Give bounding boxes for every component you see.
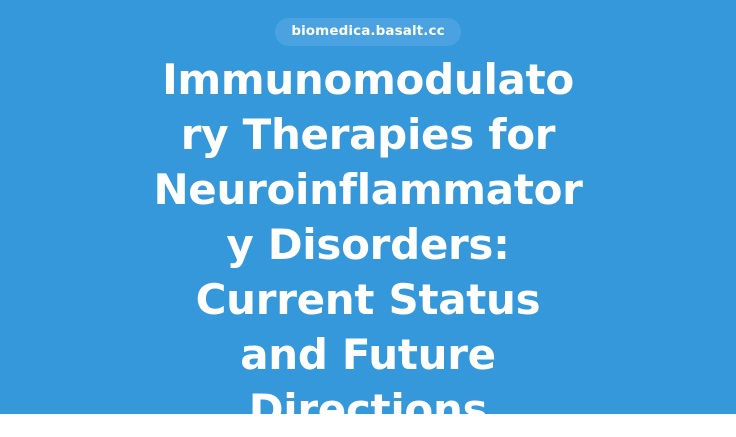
- open-graph-card: biomedica.basalt.cc Immunomodulatory The…: [0, 0, 736, 414]
- page-title: Immunomodulatory Therapies for Neuroinfl…: [153, 52, 583, 437]
- site-domain-badge: biomedica.basalt.cc: [275, 18, 460, 46]
